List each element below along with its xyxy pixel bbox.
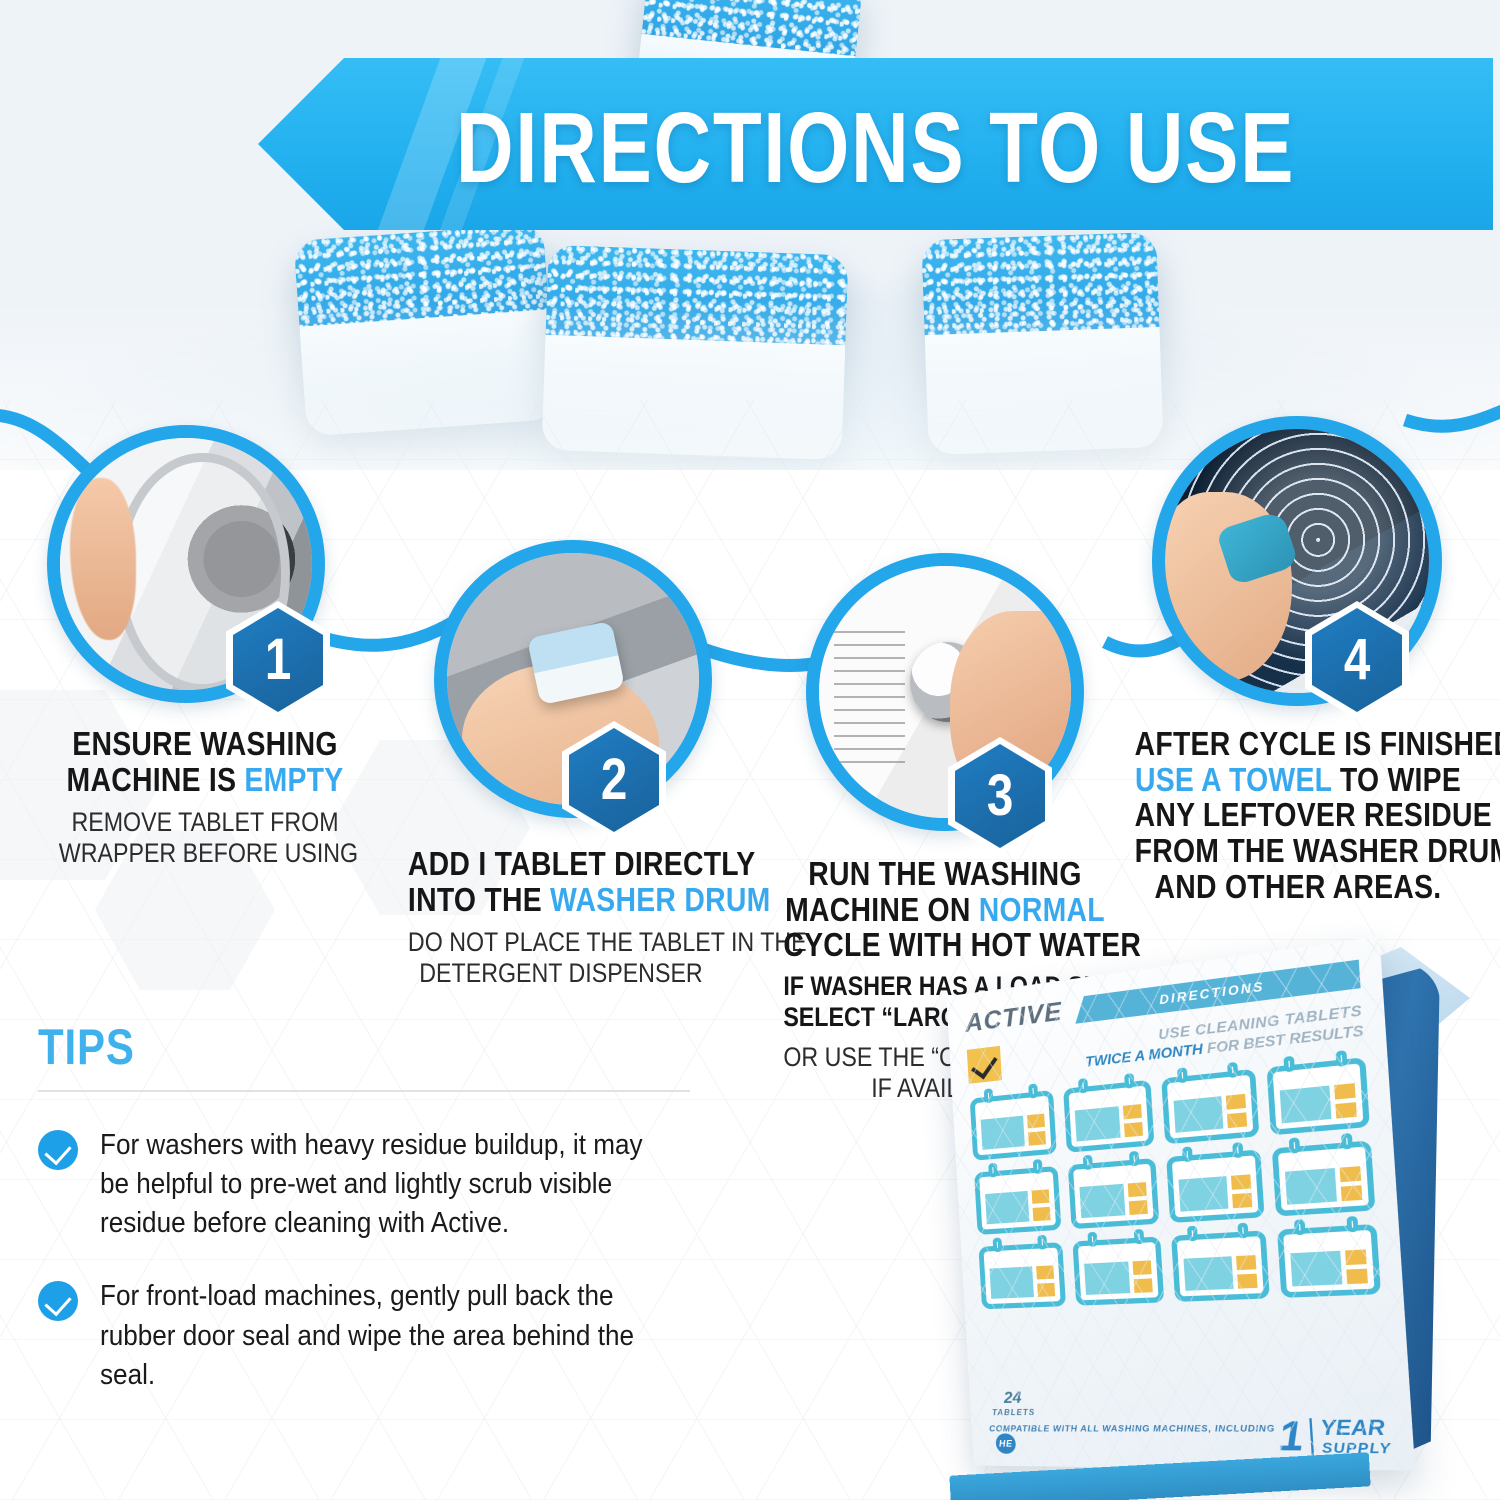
calendar-icon [1072,1237,1164,1306]
calendar-icon [1271,1141,1375,1217]
compatibility-text: COMPATIBLE WITH ALL WASHING MACHINES, IN… [989,1423,1280,1456]
step-headline-3: RUN THE WASHING MACHINE ON NORMAL CYCLE … [783,856,1106,963]
step-text-2: ADD I TABLET DIRECTLY INTO THE WASHER DR… [383,846,739,989]
calendar-icon [1171,1231,1269,1303]
supply-badge: 1 YEAR SUPPLY [1277,1418,1392,1457]
calendar-icon [1063,1080,1155,1153]
tip-text: For washers with heavy residue buildup, … [100,1126,665,1243]
step-number-1: 1 [265,631,291,689]
calendar-icon [978,1243,1065,1310]
step-text-1: ENSURE WASHING MACHINE IS EMPTY REMOVE T… [35,726,375,869]
calendar-icon [1166,1150,1264,1224]
calendar-icon [970,1090,1057,1161]
checkbox-icon [967,1046,1002,1084]
page-title: DIRECTIONS TO USE [382,62,1370,234]
step-subtext-1: REMOVE TABLET FROM WRAPPER BEFORE USING [59,807,351,869]
calendar-icon [974,1166,1061,1235]
directions-to-use-infographic: DIRECTIONS TO USE 1 ENSURE WASHING MACHI… [0,0,1500,1500]
tip-item: For front-load machines, gently pull bac… [38,1277,728,1394]
tablet-count-label: 24 TABLETS [991,1389,1036,1417]
step-number-3: 3 [987,767,1013,825]
calendar-icon [1266,1058,1370,1136]
tips-heading: TIPS [38,1018,618,1076]
step-text-4: AFTER CYCLE IS FINISHED, USE A TOWEL TO … [1108,726,1488,904]
tip-item: For washers with heavy residue buildup, … [38,1126,728,1243]
active-logo: ACTIVE [964,997,1063,1039]
he-badge-icon: HE [995,1433,1016,1453]
step-subtext-2: DO NOT PLACE THE TABLET IN THE DETERGENT… [408,927,714,989]
step-number-4: 4 [1344,631,1370,689]
step-headline-1: ENSURE WASHING MACHINE IS EMPTY [59,726,351,797]
calendar-icon [1276,1224,1381,1298]
tips-divider [38,1090,690,1092]
step-headline-4: AFTER CYCLE IS FINISHED, USE A TOWEL TO … [1135,726,1462,904]
check-circle-icon [38,1281,78,1321]
step-headline-2: ADD I TABLET DIRECTLY INTO THE WASHER DR… [408,846,714,917]
panel-footer: COMPATIBLE WITH ALL WASHING MACHINES, IN… [989,1418,1392,1457]
check-circle-icon [38,1130,78,1170]
calendar-icon [1067,1158,1159,1229]
step-number-2: 2 [601,751,627,809]
tips-section: TIPS For washers with heavy residue buil… [38,1018,728,1395]
tip-text: For front-load machines, gently pull bac… [100,1277,665,1394]
calendar-icon [1161,1069,1259,1145]
box-directions-panel: ACTIVE DIRECTIONS USE CLEANING TABLETS T… [946,936,1415,1470]
product-box-photo: ACTIVE DIRECTIONS USE CLEANING TABLETS T… [940,955,1500,1500]
calendar-icon-grid [970,1058,1381,1310]
